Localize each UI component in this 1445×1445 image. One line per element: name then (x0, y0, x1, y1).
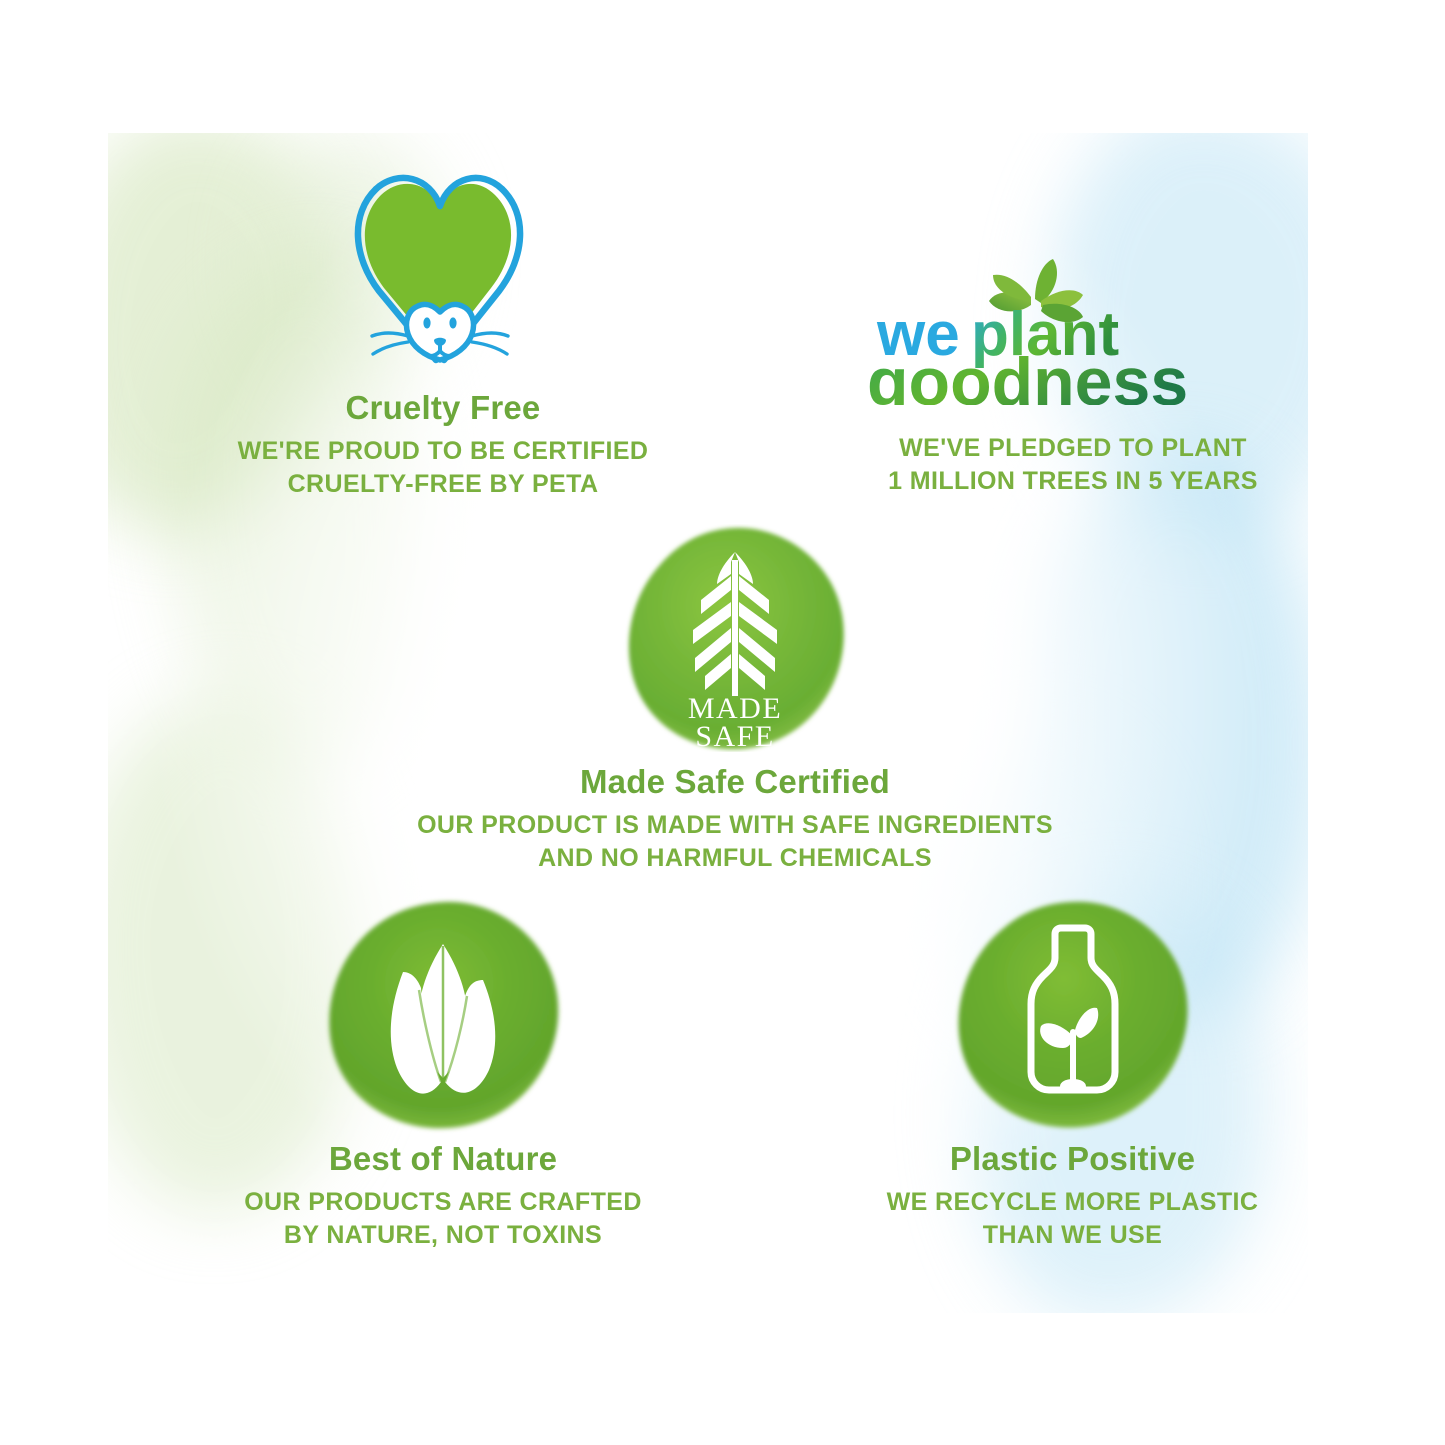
badge-desc-line: WE'RE PROUD TO BE CERTIFIED (238, 437, 649, 465)
badge-desc-line: BY NATURE, NOT TOXINS (284, 1221, 602, 1249)
badge-desc-line: CRUELTY-FREE BY PETA (288, 470, 599, 498)
bottle-sprout-icon (800, 896, 1345, 1141)
badge-desc-cruelty-free: WE'RE PROUD TO BE CERTIFIED CRUELTY-FREE… (148, 435, 738, 501)
badge-desc-line: 1 MILLION TREES IN 5 YEARS (888, 467, 1258, 495)
badge-desc-line: WE'VE PLEDGED TO PLANT (899, 434, 1247, 462)
badge-best-of-nature: Best of Nature OUR PRODUCTS ARE CRAFTED … (148, 896, 738, 1252)
badge-desc-line: OUR PRODUCTS ARE CRAFTED (244, 1188, 642, 1216)
seal-text-safe: SAFE (695, 720, 774, 752)
infographic-canvas: Cruelty Free WE'RE PROUD TO BE CERTIFIED… (0, 0, 1445, 1445)
badge-plastic-positive: Plastic Positive WE RECYCLE MORE PLASTIC… (800, 896, 1345, 1252)
badge-title-made-safe: Made Safe Certified (340, 764, 1130, 800)
badge-cruelty-free: Cruelty Free WE'RE PROUD TO BE CERTIFIED… (148, 160, 738, 501)
badge-desc-line: AND NO HARMFUL CHEMICALS (538, 844, 932, 872)
badge-title-plastic-positive: Plastic Positive (800, 1141, 1345, 1177)
badge-desc-line: WE RECYCLE MORE PLASTIC (887, 1188, 1259, 1216)
svg-text:goodness: goodness (867, 344, 1188, 405)
badge-desc-we-plant-goodness: WE'VE PLEDGED TO PLANT 1 MILLION TREES I… (818, 432, 1328, 498)
badge-we-plant-goodness: we plant goodness WE'VE PLEDGED TO PLANT… (818, 245, 1328, 498)
made-safe-seal-icon: MADE SAFE (340, 524, 1130, 764)
badge-made-safe: MADE SAFE Made Safe Certified OUR PRODUC… (340, 524, 1130, 875)
we-plant-goodness-logo: we plant goodness (818, 245, 1328, 410)
peta-bunny-heart-icon (148, 160, 738, 390)
badges-grid: Cruelty Free WE'RE PROUD TO BE CERTIFIED… (0, 0, 1445, 1445)
badge-desc-made-safe: OUR PRODUCT IS MADE WITH SAFE INGREDIENT… (340, 809, 1130, 875)
badge-title-cruelty-free: Cruelty Free (148, 390, 738, 426)
three-leaves-icon (148, 896, 738, 1141)
badge-desc-plastic-positive: WE RECYCLE MORE PLASTIC THAN WE USE (800, 1186, 1345, 1252)
badge-desc-line: THAN WE USE (983, 1221, 1162, 1249)
badge-title-best-of-nature: Best of Nature (148, 1141, 738, 1177)
badge-desc-best-of-nature: OUR PRODUCTS ARE CRAFTED BY NATURE, NOT … (148, 1186, 738, 1252)
badge-desc-line: OUR PRODUCT IS MADE WITH SAFE INGREDIENT… (417, 811, 1053, 839)
